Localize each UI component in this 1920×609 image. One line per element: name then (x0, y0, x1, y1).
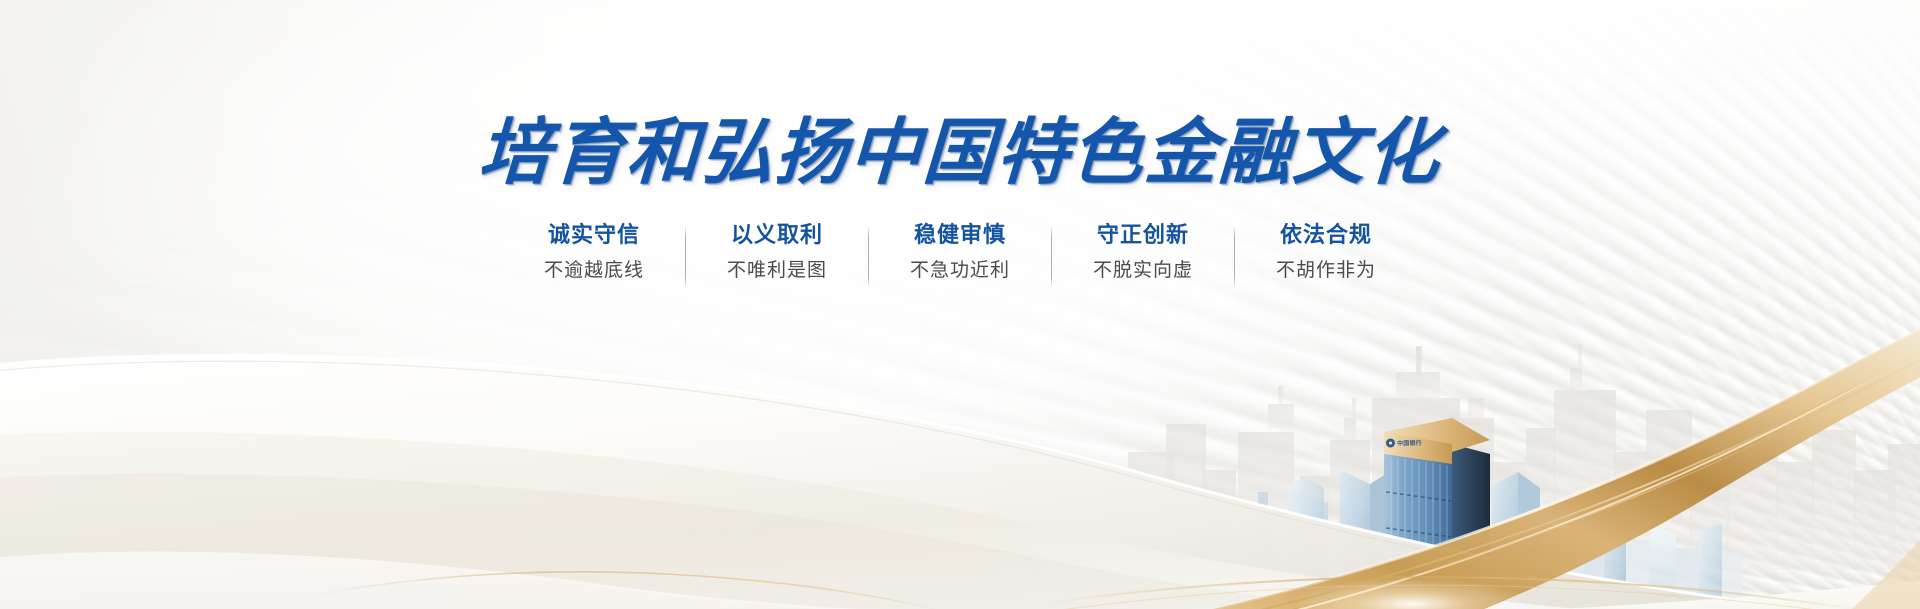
tenet-item-4: 守正创新 不脱实向虚 (1066, 222, 1220, 288)
tenet-subtitle: 不唯利是图 (702, 259, 852, 283)
tenet-subtitle: 不急功近利 (885, 259, 1035, 283)
tower-logo-text: 中国银行 (1397, 437, 1422, 447)
banner-content: 培育和弘扬中国特色金融文化 诚实守信 不逾越底线 以义取利 不唯利是图 稳健审慎… (0, 0, 1920, 360)
tenet-divider (685, 226, 686, 288)
promo-banner: 中国银行 培育和弘扬中国特色金融文化 诚实守信 不逾越底线 以义取利 不唯利是图… (0, 0, 1920, 609)
tenet-title: 以义取利 (702, 222, 852, 250)
tenet-item-1: 诚实守信 不逾越底线 (517, 222, 671, 288)
tenet-divider (868, 226, 869, 288)
tenet-item-2: 以义取利 不唯利是图 (700, 222, 854, 288)
tenet-title: 守正创新 (1068, 222, 1218, 250)
tenet-title: 依法合规 (1251, 222, 1401, 250)
tenet-item-5: 依法合规 不胡作非为 (1249, 222, 1403, 288)
tower-logo: 中国银行 (1386, 435, 1442, 448)
tenet-list: 诚实守信 不逾越底线 以义取利 不唯利是图 稳健审慎 不急功近利 守正创新 不脱… (0, 222, 1920, 288)
tenet-subtitle: 不脱实向虚 (1068, 259, 1218, 283)
page-title: 培育和弘扬中国特色金融文化 (0, 116, 1920, 188)
tenet-divider (1051, 226, 1052, 288)
tenet-subtitle: 不胡作非为 (1251, 259, 1401, 283)
tenet-divider (1234, 226, 1235, 288)
tenet-item-3: 稳健审慎 不急功近利 (883, 222, 1037, 288)
tenet-title: 诚实守信 (519, 222, 669, 250)
tower-logo-mark (1386, 438, 1395, 447)
tenet-subtitle: 不逾越底线 (519, 259, 669, 283)
tenet-title: 稳健审慎 (885, 222, 1035, 250)
